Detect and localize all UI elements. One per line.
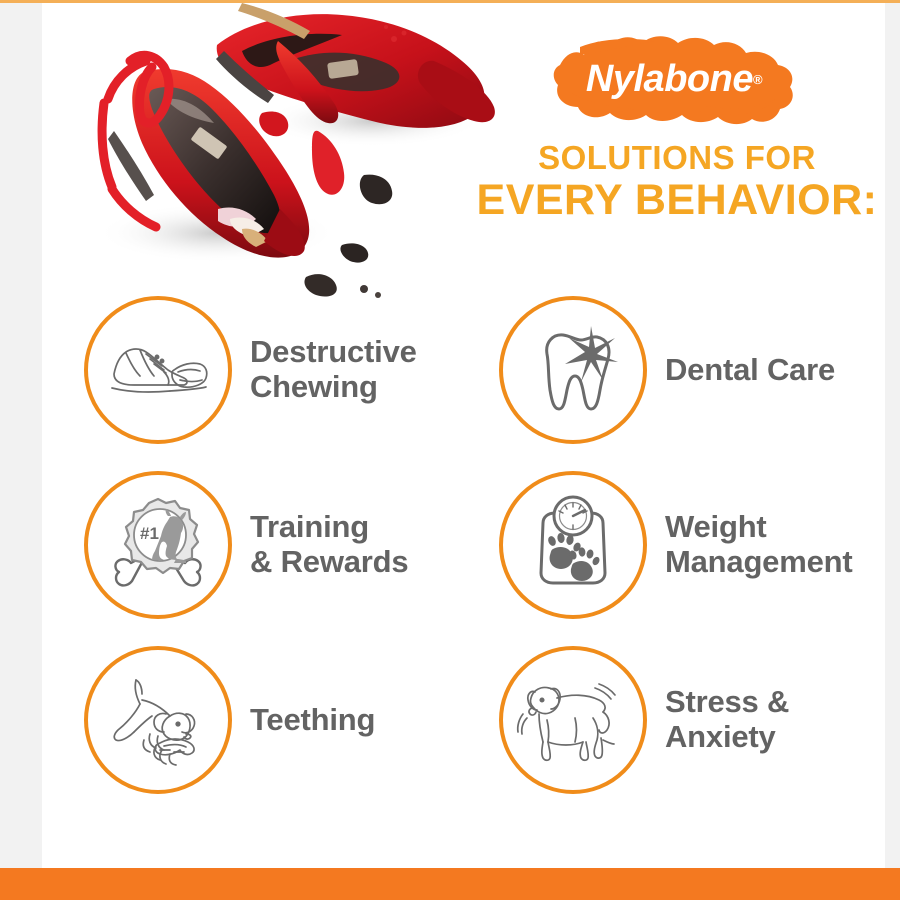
puppy-chewing-bone-icon xyxy=(100,662,216,778)
icon-circle xyxy=(499,296,647,444)
headline-line-1: SOLUTIONS FOR xyxy=(452,141,885,175)
bottom-orange-bar xyxy=(0,868,900,900)
hero-chewed-shoes-image xyxy=(42,3,512,303)
medal-rank-text: #1 xyxy=(140,524,159,543)
award-medal-dog-icon: #1 xyxy=(102,489,214,601)
behavior-item-weight-management[interactable]: Weight Management xyxy=(499,471,852,619)
poster-card: Nylabone® SOLUTIONS FOR EVERY BEHAVIOR: xyxy=(42,3,885,868)
behavior-list: Destructive Chewing Dental Care xyxy=(84,296,885,836)
behavior-label: Weight Management xyxy=(665,510,852,579)
logo-brushstroke-icon xyxy=(550,31,798,127)
behavior-label: Dental Care xyxy=(665,353,835,388)
behavior-label: Training & Rewards xyxy=(250,510,408,579)
nylabone-logo: Nylabone® xyxy=(550,31,798,127)
sparkling-tooth-icon xyxy=(517,314,629,426)
icon-circle xyxy=(84,296,232,444)
behavior-item-teething[interactable]: Teething xyxy=(84,646,375,794)
paw-scale-icon xyxy=(517,489,629,601)
icon-circle xyxy=(84,646,232,794)
shoe-upper xyxy=(216,14,495,128)
behavior-item-dental-care[interactable]: Dental Care xyxy=(499,296,835,444)
behavior-label: Stress & Anxiety xyxy=(665,685,789,754)
chewed-shoe-icon xyxy=(100,312,216,428)
poster-root: Nylabone® SOLUTIONS FOR EVERY BEHAVIOR: xyxy=(0,0,900,900)
icon-circle xyxy=(499,646,647,794)
behavior-label: Teething xyxy=(250,703,375,738)
behavior-item-destructive-chewing[interactable]: Destructive Chewing xyxy=(84,296,417,444)
icon-circle: #1 xyxy=(84,471,232,619)
behavior-item-training-rewards[interactable]: #1 Training & Rewards xyxy=(84,471,408,619)
behavior-label: Destructive Chewing xyxy=(250,335,417,404)
icon-circle xyxy=(499,471,647,619)
headline-line-2: EVERY BEHAVIOR: xyxy=(452,179,885,223)
behavior-item-stress-anxiety[interactable]: Stress & Anxiety xyxy=(499,646,789,794)
page-title: SOLUTIONS FOR EVERY BEHAVIOR: xyxy=(452,141,885,223)
trembling-dog-icon xyxy=(515,662,631,778)
